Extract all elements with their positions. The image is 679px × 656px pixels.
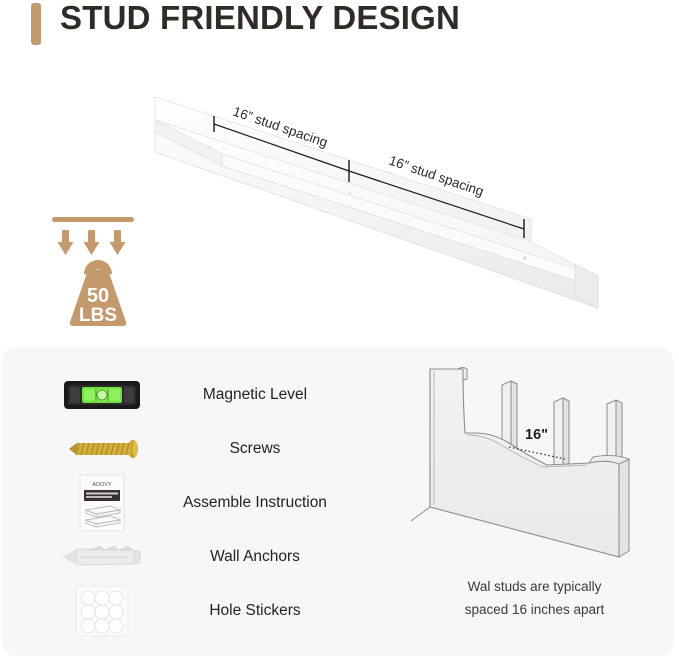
- magnetic-level-icon: [54, 367, 150, 423]
- caption-line-2: spaced 16 inches apart: [397, 598, 672, 621]
- wall-anchor-icon: [54, 529, 150, 585]
- mount-hole: [523, 256, 526, 259]
- list-item-label: Assemble Instruction: [160, 475, 350, 531]
- hole-sticker-sheet-icon: [54, 583, 150, 639]
- weight-value: 50: [87, 285, 109, 307]
- support-bar-icon: [52, 217, 134, 222]
- caption-line-1: Wal studs are typically: [397, 575, 672, 598]
- wall-stud-diagram: 16": [397, 367, 672, 577]
- page-title: STUD FRIENDLY DESIGN: [60, 0, 460, 37]
- header: STUD FRIENDLY DESIGN: [0, 0, 679, 52]
- list-item: ADOVY: [2, 475, 374, 531]
- wall-stud-svg: 16": [397, 367, 672, 577]
- accent-bar-icon: [31, 3, 41, 45]
- list-item: Magnetic Level: [2, 367, 374, 423]
- product-infographic: STUD FRIENDLY DESIGN: [0, 0, 679, 656]
- weight-unit: LBS: [79, 305, 117, 326]
- list-item: Screws: [2, 421, 374, 477]
- stud-diagram-caption: Wal studs are typically spaced 16 inches…: [397, 575, 672, 621]
- measurement-label: 16": [525, 427, 548, 443]
- instruction-booklet-icon: ADOVY: [54, 475, 150, 531]
- list-item-label: Magnetic Level: [160, 367, 350, 423]
- list-item: Hole Stickers: [2, 583, 374, 639]
- weight-capacity-badge: 50 LBS: [40, 212, 165, 332]
- down-arrows-icon: [58, 230, 126, 255]
- mount-hole: [209, 146, 212, 149]
- list-item-label: Screws: [160, 421, 350, 477]
- list-item-label: Hole Stickers: [160, 583, 350, 639]
- list-item: Wall Anchors: [2, 529, 374, 585]
- accessories-list: Magnetic Level: [2, 347, 374, 656]
- svg-text:ADOVY: ADOVY: [92, 482, 112, 488]
- mount-hole: [349, 192, 352, 195]
- screw-icon: [54, 421, 150, 477]
- accessories-card: Magnetic Level: [2, 347, 674, 656]
- weight-badge-svg: 50 LBS: [40, 212, 165, 332]
- list-item-label: Wall Anchors: [160, 529, 350, 585]
